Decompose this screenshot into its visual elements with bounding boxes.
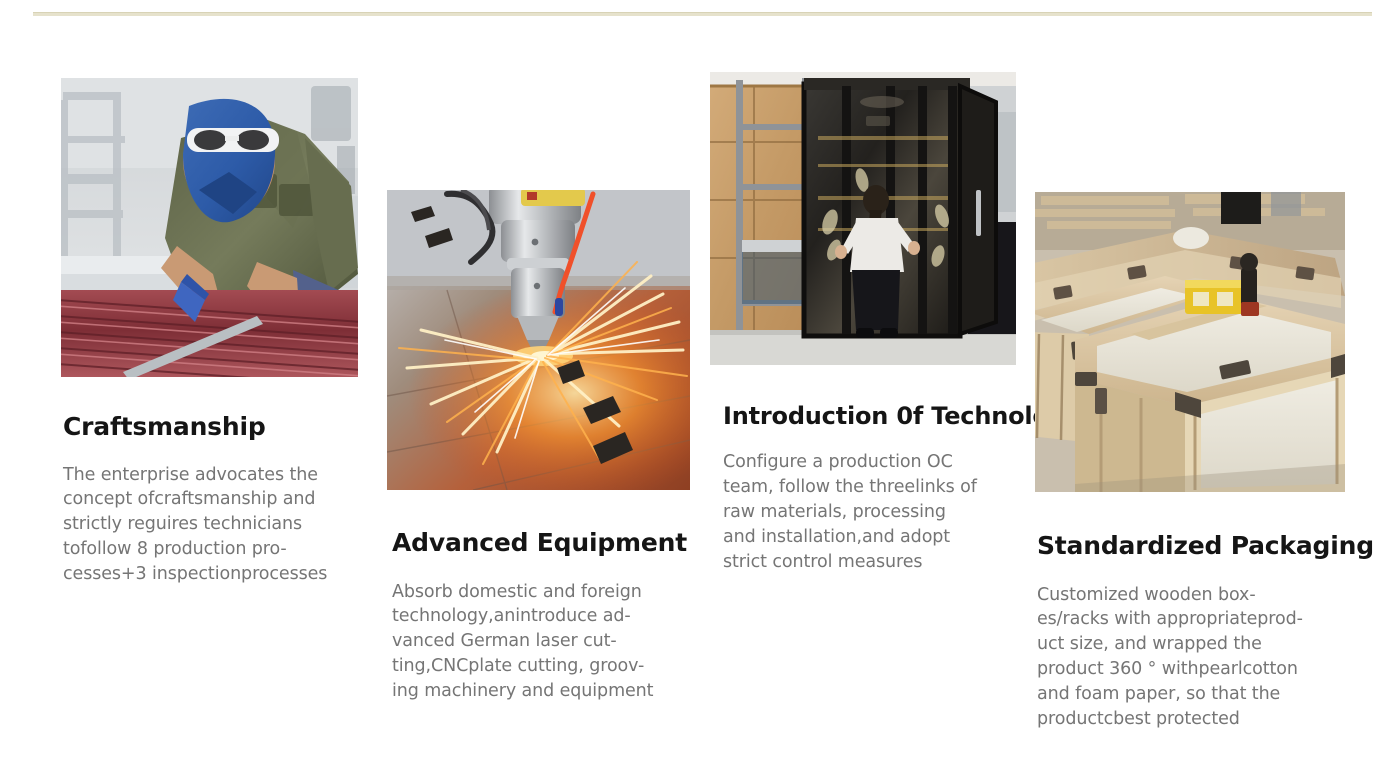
- body-line: Absorb domestic and foreign: [392, 580, 692, 605]
- laser-cutting-sparks-image: [387, 190, 690, 490]
- body-line: and foam paper, so that the: [1037, 682, 1347, 707]
- body-line: technology,anintroduce ad-: [392, 604, 692, 629]
- showroom-glass-doors-inspection-image: [710, 72, 1016, 365]
- body-line: The enterprise advocates the: [63, 463, 361, 488]
- craftsmanship-title: Craftsmanship: [63, 413, 361, 441]
- technology-photo: [710, 72, 1016, 365]
- technology-title: Introduction 0f Technology: [723, 403, 1020, 429]
- packaging-photo: [1035, 192, 1345, 492]
- body-line: tofollow 8 production pro-: [63, 537, 361, 562]
- body-line: Configure a production OC: [723, 450, 1020, 475]
- body-line: product 360 ° withpearlcotton: [1037, 657, 1347, 682]
- advanced-equipment-description: Absorb domestic and foreign technology,a…: [392, 580, 692, 704]
- body-line: strictly reguires technicians: [63, 512, 361, 537]
- body-line: uct size, and wrapped the: [1037, 632, 1347, 657]
- body-line: ting,CNCplate cutting, groov-: [392, 654, 692, 679]
- advanced-equipment-title: Advanced Equipment: [392, 529, 692, 557]
- body-line: cesses+3 inspectionprocesses: [63, 562, 361, 587]
- body-line: concept ofcraftsmanship and: [63, 487, 361, 512]
- feature-card-craftsmanship: Craftsmanship The enterprise advocates t…: [61, 78, 361, 587]
- body-line: and installation,and adopt: [723, 525, 1020, 550]
- craftsmanship-photo: [61, 78, 358, 377]
- wooden-crates-warehouse-image: [1035, 192, 1345, 492]
- top-divider-rule: [33, 12, 1372, 16]
- craftsmanship-description: The enterprise advocates the concept ofc…: [63, 463, 361, 587]
- body-line: raw materials, processing: [723, 500, 1020, 525]
- body-line: productcbest protected: [1037, 707, 1347, 732]
- advanced-equipment-photo: [387, 190, 690, 490]
- body-line: team, follow the threelinks of: [723, 475, 1020, 500]
- body-line: strict control measures: [723, 550, 1020, 575]
- body-line: Customized wooden box-: [1037, 583, 1347, 608]
- worker-welding-mask-image: [61, 78, 358, 377]
- feature-card-advanced-equipment: Advanced Equipment Absorb domestic and f…: [387, 190, 692, 704]
- feature-card-introduction-of-technology: Introduction 0f Technology Configure a p…: [710, 72, 1020, 575]
- technology-description: Configure a production OC team, follow t…: [723, 450, 1020, 574]
- body-line: es/racks with appropriateprod-: [1037, 607, 1347, 632]
- feature-card-standardized-packaging: Standardized Packaging Customized wooden…: [1035, 192, 1347, 732]
- packaging-description: Customized wooden box- es/racks with app…: [1037, 583, 1347, 732]
- body-line: ing machinery and equipment: [392, 679, 692, 704]
- packaging-title: Standardized Packaging: [1037, 532, 1347, 560]
- body-line: vanced German laser cut-: [392, 629, 692, 654]
